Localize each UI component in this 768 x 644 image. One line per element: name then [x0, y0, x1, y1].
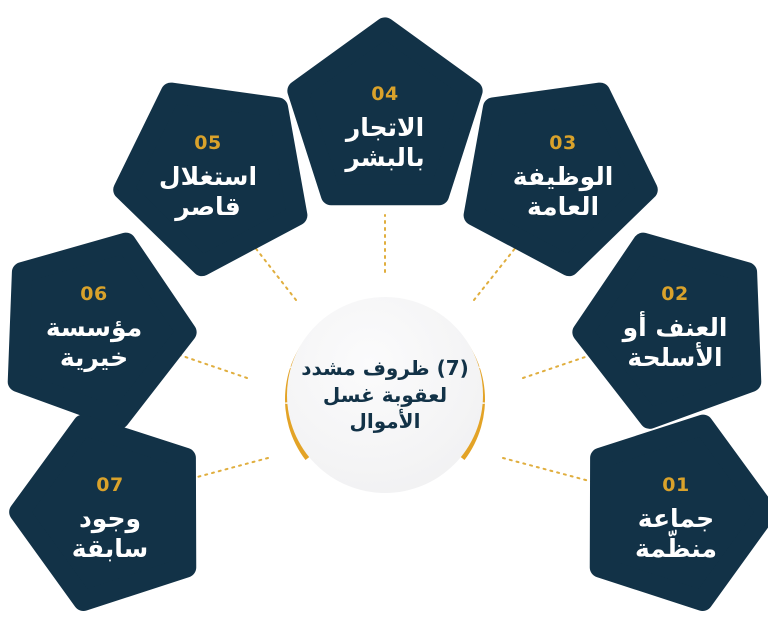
pentagon-shape-06	[3, 232, 189, 418]
node-01-organized-group[interactable]: 01 جماعة منظّمة	[583, 415, 768, 601]
node-06-charitable-institution[interactable]: 06 مؤسسة خيرية	[3, 232, 189, 418]
node-03-public-office[interactable]: 03 الوظيفة العامة	[466, 77, 652, 263]
hub-inner-circle: (7) ظروف مشدد لعقوبة غسل الأموال	[287, 297, 483, 493]
node-04-human-trafficking[interactable]: 04 الاتجار بالبشر	[292, 22, 478, 208]
pentagon-shape-04	[292, 22, 478, 208]
money-laundering-aggravating-circumstances-infographic: 01 جماعة منظّمة 02 العنف أو الأسلحة 03 ا…	[0, 0, 768, 644]
center-hub: (7) ظروف مشدد لعقوبة غسل الأموال	[240, 276, 530, 524]
pentagon-shape-01	[583, 415, 768, 601]
pentagon-shape-03	[466, 77, 652, 263]
node-07-prior-record[interactable]: 07 وجود سابقة	[17, 415, 203, 601]
pentagon-shape-07	[17, 415, 203, 601]
hub-title: (7) ظروف مشدد لعقوبة غسل الأموال	[293, 355, 477, 435]
